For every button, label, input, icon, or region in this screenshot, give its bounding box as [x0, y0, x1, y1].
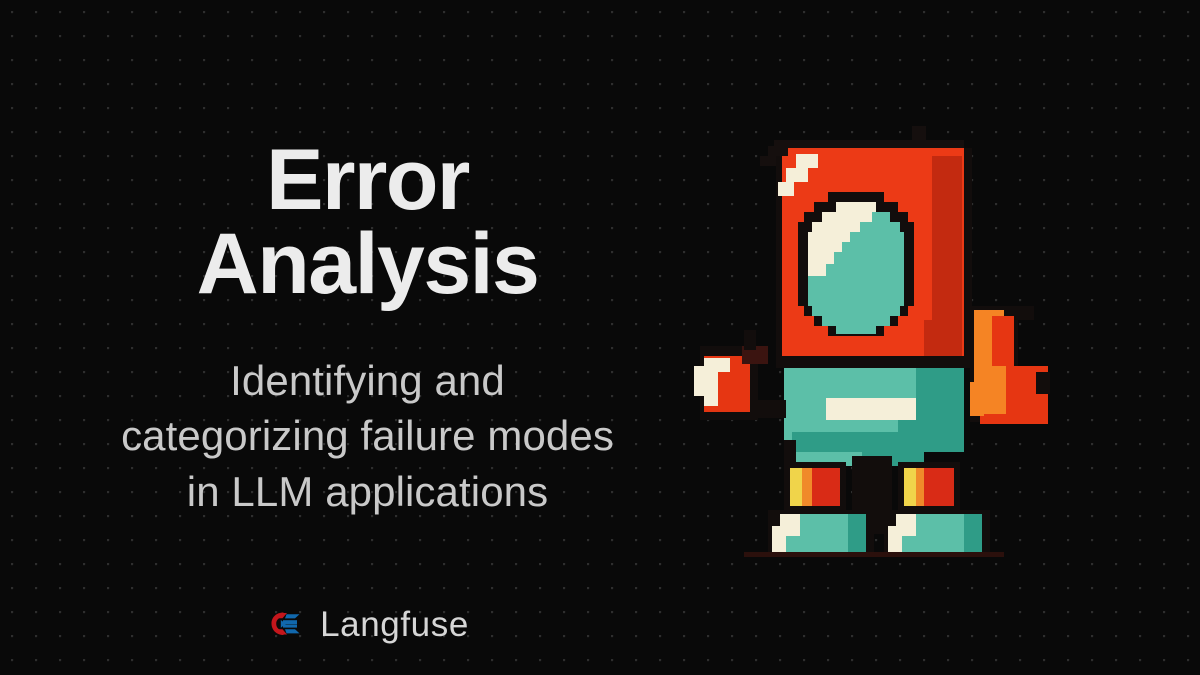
page-subtitle-line-1: Identifying and [230, 357, 505, 404]
page-subtitle-line-2: categorizing failure modes [121, 412, 614, 459]
brand-name: Langfuse [320, 607, 469, 642]
page-subtitle: Identifying and categorizing failure mod… [28, 353, 708, 521]
robot-right-arm [970, 306, 1050, 424]
robot-torso [776, 356, 972, 466]
brand-lockup: Langfuse [0, 604, 1200, 644]
robot-left-arm [694, 330, 786, 420]
robot-eye [798, 192, 914, 336]
text-column: Error Analysis Identifying and categoriz… [0, 0, 735, 675]
page-title: Error Analysis [48, 138, 688, 307]
page-title-line-1: Error [266, 132, 469, 228]
robot-feet [744, 510, 1004, 557]
page-title-line-2: Analysis [197, 216, 539, 312]
langfuse-logo-icon [266, 604, 306, 644]
pixel-art-robot [680, 110, 1080, 570]
page-subtitle-line-3: in LLM applications [187, 468, 548, 515]
slide-canvas: Error Analysis Identifying and categoriz… [0, 0, 1200, 675]
